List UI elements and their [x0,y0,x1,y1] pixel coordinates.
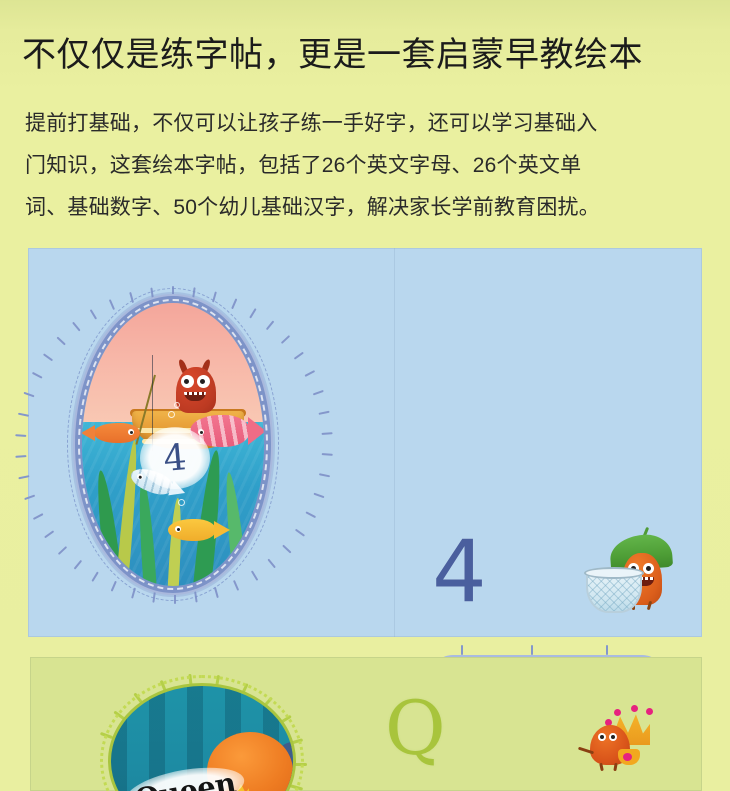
crown-jewel [614,709,621,716]
monster-eye [181,375,194,388]
bubble-numeral: 4 [137,424,212,492]
monster-eye [598,733,606,741]
bubble [174,402,180,408]
number-spread-panel: 4 4 4444444444 [28,248,702,637]
monster-eye [197,375,210,388]
crown-jewel [631,705,638,712]
oval-frame: 4 [75,296,271,593]
crown-jewel [646,708,653,715]
orange-fish [94,423,140,443]
monster-eye [643,563,654,574]
monster-leg [613,763,617,771]
description-line-2: 门知识，这套绘本字帖，包括了26个英文字母、26个英文单 [25,145,709,187]
description-line-3: 词、基础数字、50个幼儿基础汉字，解决家长学前教育困扰。 [25,187,709,229]
letter-q: Q [385,690,465,770]
page-title: 不仅仅是练字帖，更是一套启蒙早教绘本 [22,33,712,77]
number-bubble: 4 [140,427,210,489]
description-line-1: 提前打基础，不仅可以让孩子练一手好字，还可以学习基础入 [25,103,709,145]
monster-body [176,367,216,413]
page-root: 不仅仅是练字帖，更是一套启蒙早教绘本 提前打基础，不仅可以让孩子练一手好字，还可… [0,0,730,791]
queen-monster [584,705,658,771]
yellow-fish [168,519,216,541]
spread-gutter [394,248,395,637]
monster-skirt [618,749,640,765]
letter-spread-panel: Queen Q [30,657,702,791]
net-monster [584,533,680,611]
net-rim [584,567,644,579]
page-description: 提前打基础，不仅可以让孩子练一手好字，还可以学习基础入 门知识，这套绘本字帖，包… [25,103,709,229]
monster-eye [609,733,617,741]
queen-illustration: Queen [108,683,296,791]
big-numeral: 4 [432,529,520,619]
bubble [168,411,175,418]
bubble [178,499,185,506]
oval-illustration: 4 [75,296,271,593]
monster-leg [647,601,652,610]
